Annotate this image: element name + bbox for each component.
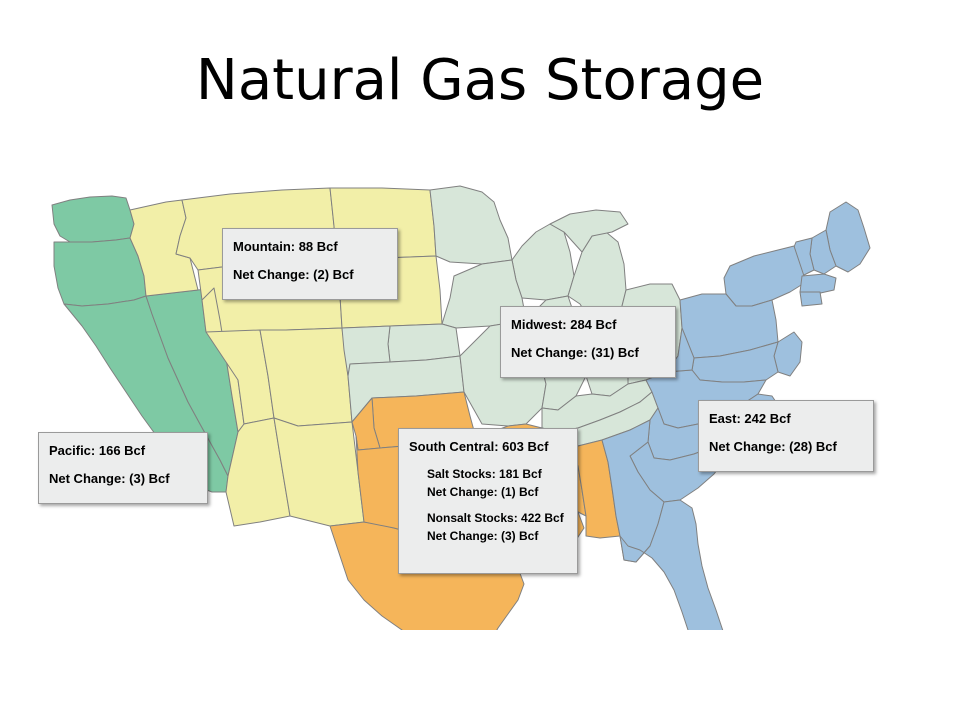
page-title: Natural Gas Storage — [0, 48, 960, 113]
callout-south-central-salt-net-change: Net Change: (1) Bcf — [409, 483, 567, 501]
callout-east: East: 242 Bcf Net Change: (28) Bcf — [698, 400, 874, 472]
callout-south-central: South Central: 603 Bcf Salt Stocks: 181 … — [398, 428, 578, 574]
callout-east-net-change: Net Change: (28) Bcf — [709, 437, 863, 457]
callout-pacific-stocks: Pacific: 166 Bcf — [49, 441, 197, 461]
callout-east-stocks: East: 242 Bcf — [709, 409, 863, 429]
callout-midwest-net-change: Net Change: (31) Bcf — [511, 343, 665, 363]
callout-pacific: Pacific: 166 Bcf Net Change: (3) Bcf — [38, 432, 208, 504]
callout-mountain-net-change: Net Change: (2) Bcf — [233, 265, 387, 285]
callout-mountain-stocks: Mountain: 88 Bcf — [233, 237, 387, 257]
slide: Natural Gas Storage — [0, 0, 960, 720]
callout-south-central-stocks: South Central: 603 Bcf — [409, 437, 567, 457]
callout-mountain: Mountain: 88 Bcf Net Change: (2) Bcf — [222, 228, 398, 300]
callout-south-central-nonsalt-net-change: Net Change: (3) Bcf — [409, 527, 567, 545]
callout-pacific-net-change: Net Change: (3) Bcf — [49, 469, 197, 489]
callout-midwest: Midwest: 284 Bcf Net Change: (31) Bcf — [500, 306, 676, 378]
callout-midwest-stocks: Midwest: 284 Bcf — [511, 315, 665, 335]
callout-south-central-salt-stocks: Salt Stocks: 181 Bcf — [409, 465, 567, 483]
callout-south-central-nonsalt-stocks: Nonsalt Stocks: 422 Bcf — [409, 509, 567, 527]
